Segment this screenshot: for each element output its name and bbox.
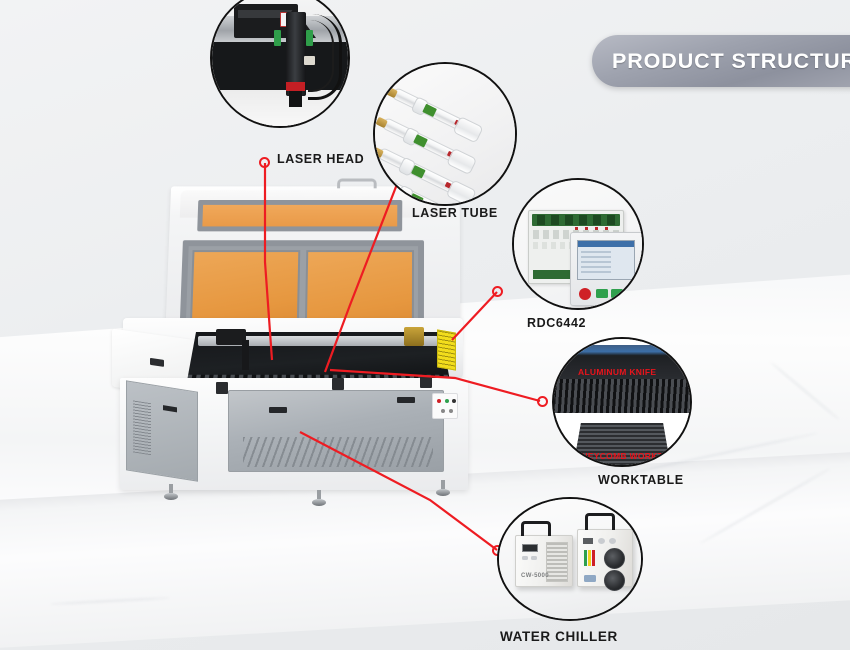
chiller-fan-lower [604,570,625,591]
machine-lower-body [120,378,468,490]
lid-handle [337,179,377,189]
title-banner: PRODUCT STRUCTURE [592,35,850,87]
connector-marker-rdc6442 [492,286,503,297]
adjuster-knob-left [274,30,281,46]
door-ventilation-slots [243,437,433,467]
gantry-motor [404,327,424,346]
callout-circle-water-chiller: CW-5000 [497,497,643,621]
callout-circle-laser-head [210,0,350,128]
water-chiller-unit-left: CW-5000 [515,535,573,587]
page-title: PRODUCT STRUCTURE [612,49,850,74]
chiller-fan-upper [604,548,625,569]
gantry-rail [198,336,438,346]
laser-nozzle [289,91,302,107]
callout-circle-worktable: ALUMINUM KNIFE HONEYCOMB WORKTABLE [552,337,692,467]
lid-upper-window [197,200,402,231]
callout-circle-rdc6442 [512,178,644,310]
overlay-label-honeycomb-worktable: HONEYCOMB WORKTABLE [568,451,687,461]
chiller-model-label: CW-5000 [521,573,549,579]
warning-sticker [437,329,456,370]
leveling-foot [164,484,178,500]
callout-label-water-chiller: WATER CHILLER [500,629,618,644]
leveling-foot [436,480,450,496]
side-handle [163,405,177,412]
callout-label-laser-tube: LASER TUBE [412,206,498,220]
chiller-display [522,544,538,552]
chiller-handle-right [585,513,615,530]
body-clip [332,378,344,390]
body-clip [216,382,228,394]
rdc6442-lcd-screen [577,240,635,280]
leveling-foot [312,490,326,506]
laser-head-red-band [286,82,305,91]
connector-marker-laser-head [259,157,270,168]
laser-head-on-machine [242,340,249,370]
machine-side-panel [126,380,198,481]
connector-marker-worktable [537,396,548,407]
chiller-handle-left [521,521,551,536]
callout-label-worktable: WORKTABLE [598,473,684,487]
callout-label-laser-head: LASER HEAD [277,152,364,166]
rdc6442-control-panel[interactable] [570,232,644,306]
door-handle-right [397,397,415,403]
aluminum-knife-photo [554,345,690,411]
side-vent [133,400,151,455]
machine-control-knobs[interactable] [432,393,458,419]
product-structure-diagram: LASER HEAD LASER TUBE [0,0,850,650]
callout-circle-laser-tube [373,62,517,206]
water-chiller-unit-right [577,529,633,587]
door-handle-left [269,407,287,413]
machine-front-door [228,390,444,472]
body-clip [420,376,432,388]
console-slot [150,358,164,367]
callout-label-rdc6442: RDC6442 [527,316,586,330]
overlay-label-aluminum-knife: ALUMINUM KNIFE [578,367,656,377]
air-fitting [304,56,315,65]
